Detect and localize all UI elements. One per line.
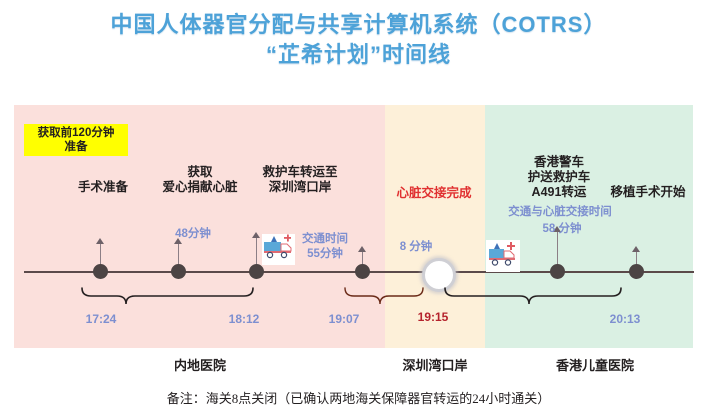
step-label-transport-line-1: 救护车转运至 [245,165,355,180]
tick-stem-1 [100,244,101,266]
step-label-surgery-prep: 手术准备 [60,180,146,195]
page-title: 中国人体器官分配与共享计算机系统（COTRS） “芷希计划”时间线 [0,10,717,70]
section-label-shenzhen-bay-port: 深圳湾口岸 [385,355,485,374]
footer-note: 备注：海关8点关闭（已确认两地海关保障器官转运的24小时通关） [0,388,717,407]
duration-8min: 8 分钟 [383,240,449,255]
duration-58min: 58 分钟 [522,222,602,237]
section-label-hongkong-childrens-hospital: 香港儿童医院 [530,355,660,374]
step-label-heart-handover: 心脏交接完成 [382,182,486,201]
timestamp-1907: 19:07 [315,312,373,326]
tick-stem-5 [557,232,558,266]
duration-55min: 55分钟 [288,247,362,262]
ambulance-icon [262,234,295,265]
prep-highlight-line-1: 获取前120分钟 [28,126,124,140]
timeline-node-6[interactable] [629,264,644,279]
duration-transit-label: 交通时间 [288,232,362,247]
timestamp-1915: 19:15 [404,310,462,324]
timestamp-1812: 18:12 [215,312,273,326]
duration-48min: 48分钟 [153,227,233,242]
title-line-2: “芷希计划”时间线 [0,40,717,70]
timeline-node-3[interactable] [249,264,264,279]
tick-arrow-1 [96,238,104,244]
tick-stem-2 [178,244,179,266]
prep-highlight-line-2: 准备 [28,140,124,154]
prep-highlight-box: 获取前120分钟 准备 [24,124,128,156]
timeline-infographic: 中国人体器官分配与共享计算机系统（COTRS） “芷希计划”时间线 获取前120… [0,0,717,420]
step-label-escort-line-2: 护送救护车 [500,170,618,185]
step-label-harvest-line-1: 获取 [145,165,255,180]
step-label-transport-line-2: 深圳湾口岸 [245,180,355,195]
step-label-escort-line-1: 香港警车 [500,155,618,170]
ambulance-icon [486,240,520,272]
timeline-node-2[interactable] [171,264,186,279]
title-line-1: 中国人体器官分配与共享计算机系统（COTRS） [0,10,717,40]
step-label-transplant-start: 移植手术开始 [600,185,696,200]
timestamp-2013: 20:13 [596,312,654,326]
tick-arrow-6 [632,246,640,252]
timeline-node-handover-hub[interactable] [422,258,456,292]
tick-arrow-3 [252,232,260,238]
timeline-node-1[interactable] [93,264,108,279]
timeline-node-5[interactable] [550,264,565,279]
duration-transit-handover-label: 交通与心脏交接时间 [492,205,628,220]
section-label-mainland-hospital: 内地医院 [140,355,260,374]
timestamp-1724: 17:24 [72,312,130,326]
tick-stem-3 [256,238,257,266]
step-label-harvest-line-2: 爱心捐献心脏 [145,180,255,195]
timeline-node-4[interactable] [355,264,370,279]
